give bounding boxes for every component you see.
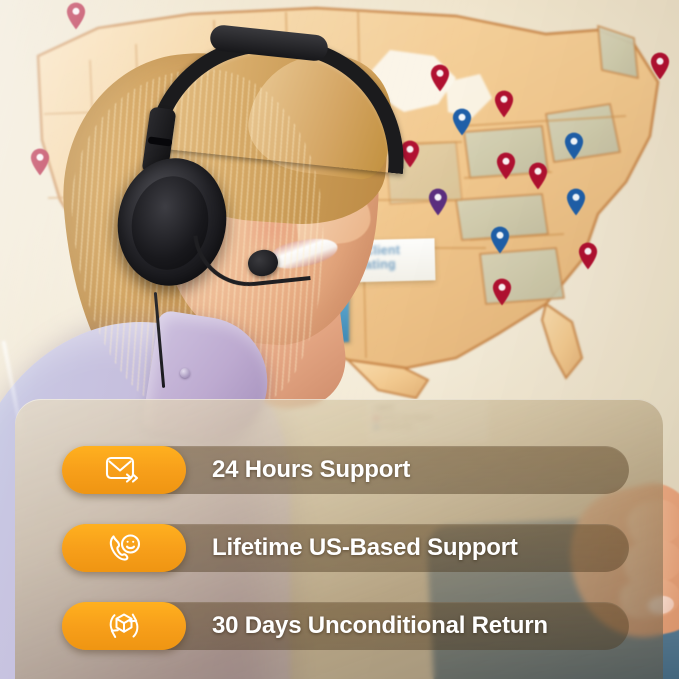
feature-label: 30 Days Unconditional Return — [212, 612, 548, 640]
envelope-send-icon — [104, 454, 144, 486]
package-return-icon — [106, 608, 142, 644]
feature-label: Lifetime US-Based Support — [212, 534, 518, 562]
feature-label: 24 Hours Support — [212, 456, 410, 484]
feature-row-24-hours-support[interactable]: 24 Hours Support — [63, 446, 629, 494]
shirt-button — [180, 368, 190, 378]
feature-row-lifetime-us-based-support[interactable]: Lifetime US-Based Support — [63, 524, 629, 572]
phone-smiley-icon — [106, 531, 142, 565]
feature-icon-badge[interactable] — [62, 446, 186, 494]
feature-list: 24 Hours Support Lif — [15, 399, 663, 679]
banner-stage: Service to Client Grow Creating Legend S… — [0, 0, 679, 679]
feature-overlay-panel: 24 Hours Support Lif — [15, 399, 663, 679]
feature-icon-badge[interactable] — [62, 524, 186, 572]
feature-icon-badge[interactable] — [62, 602, 186, 650]
feature-row-30-days-unconditional-return[interactable]: 30 Days Unconditional Return — [63, 602, 629, 650]
